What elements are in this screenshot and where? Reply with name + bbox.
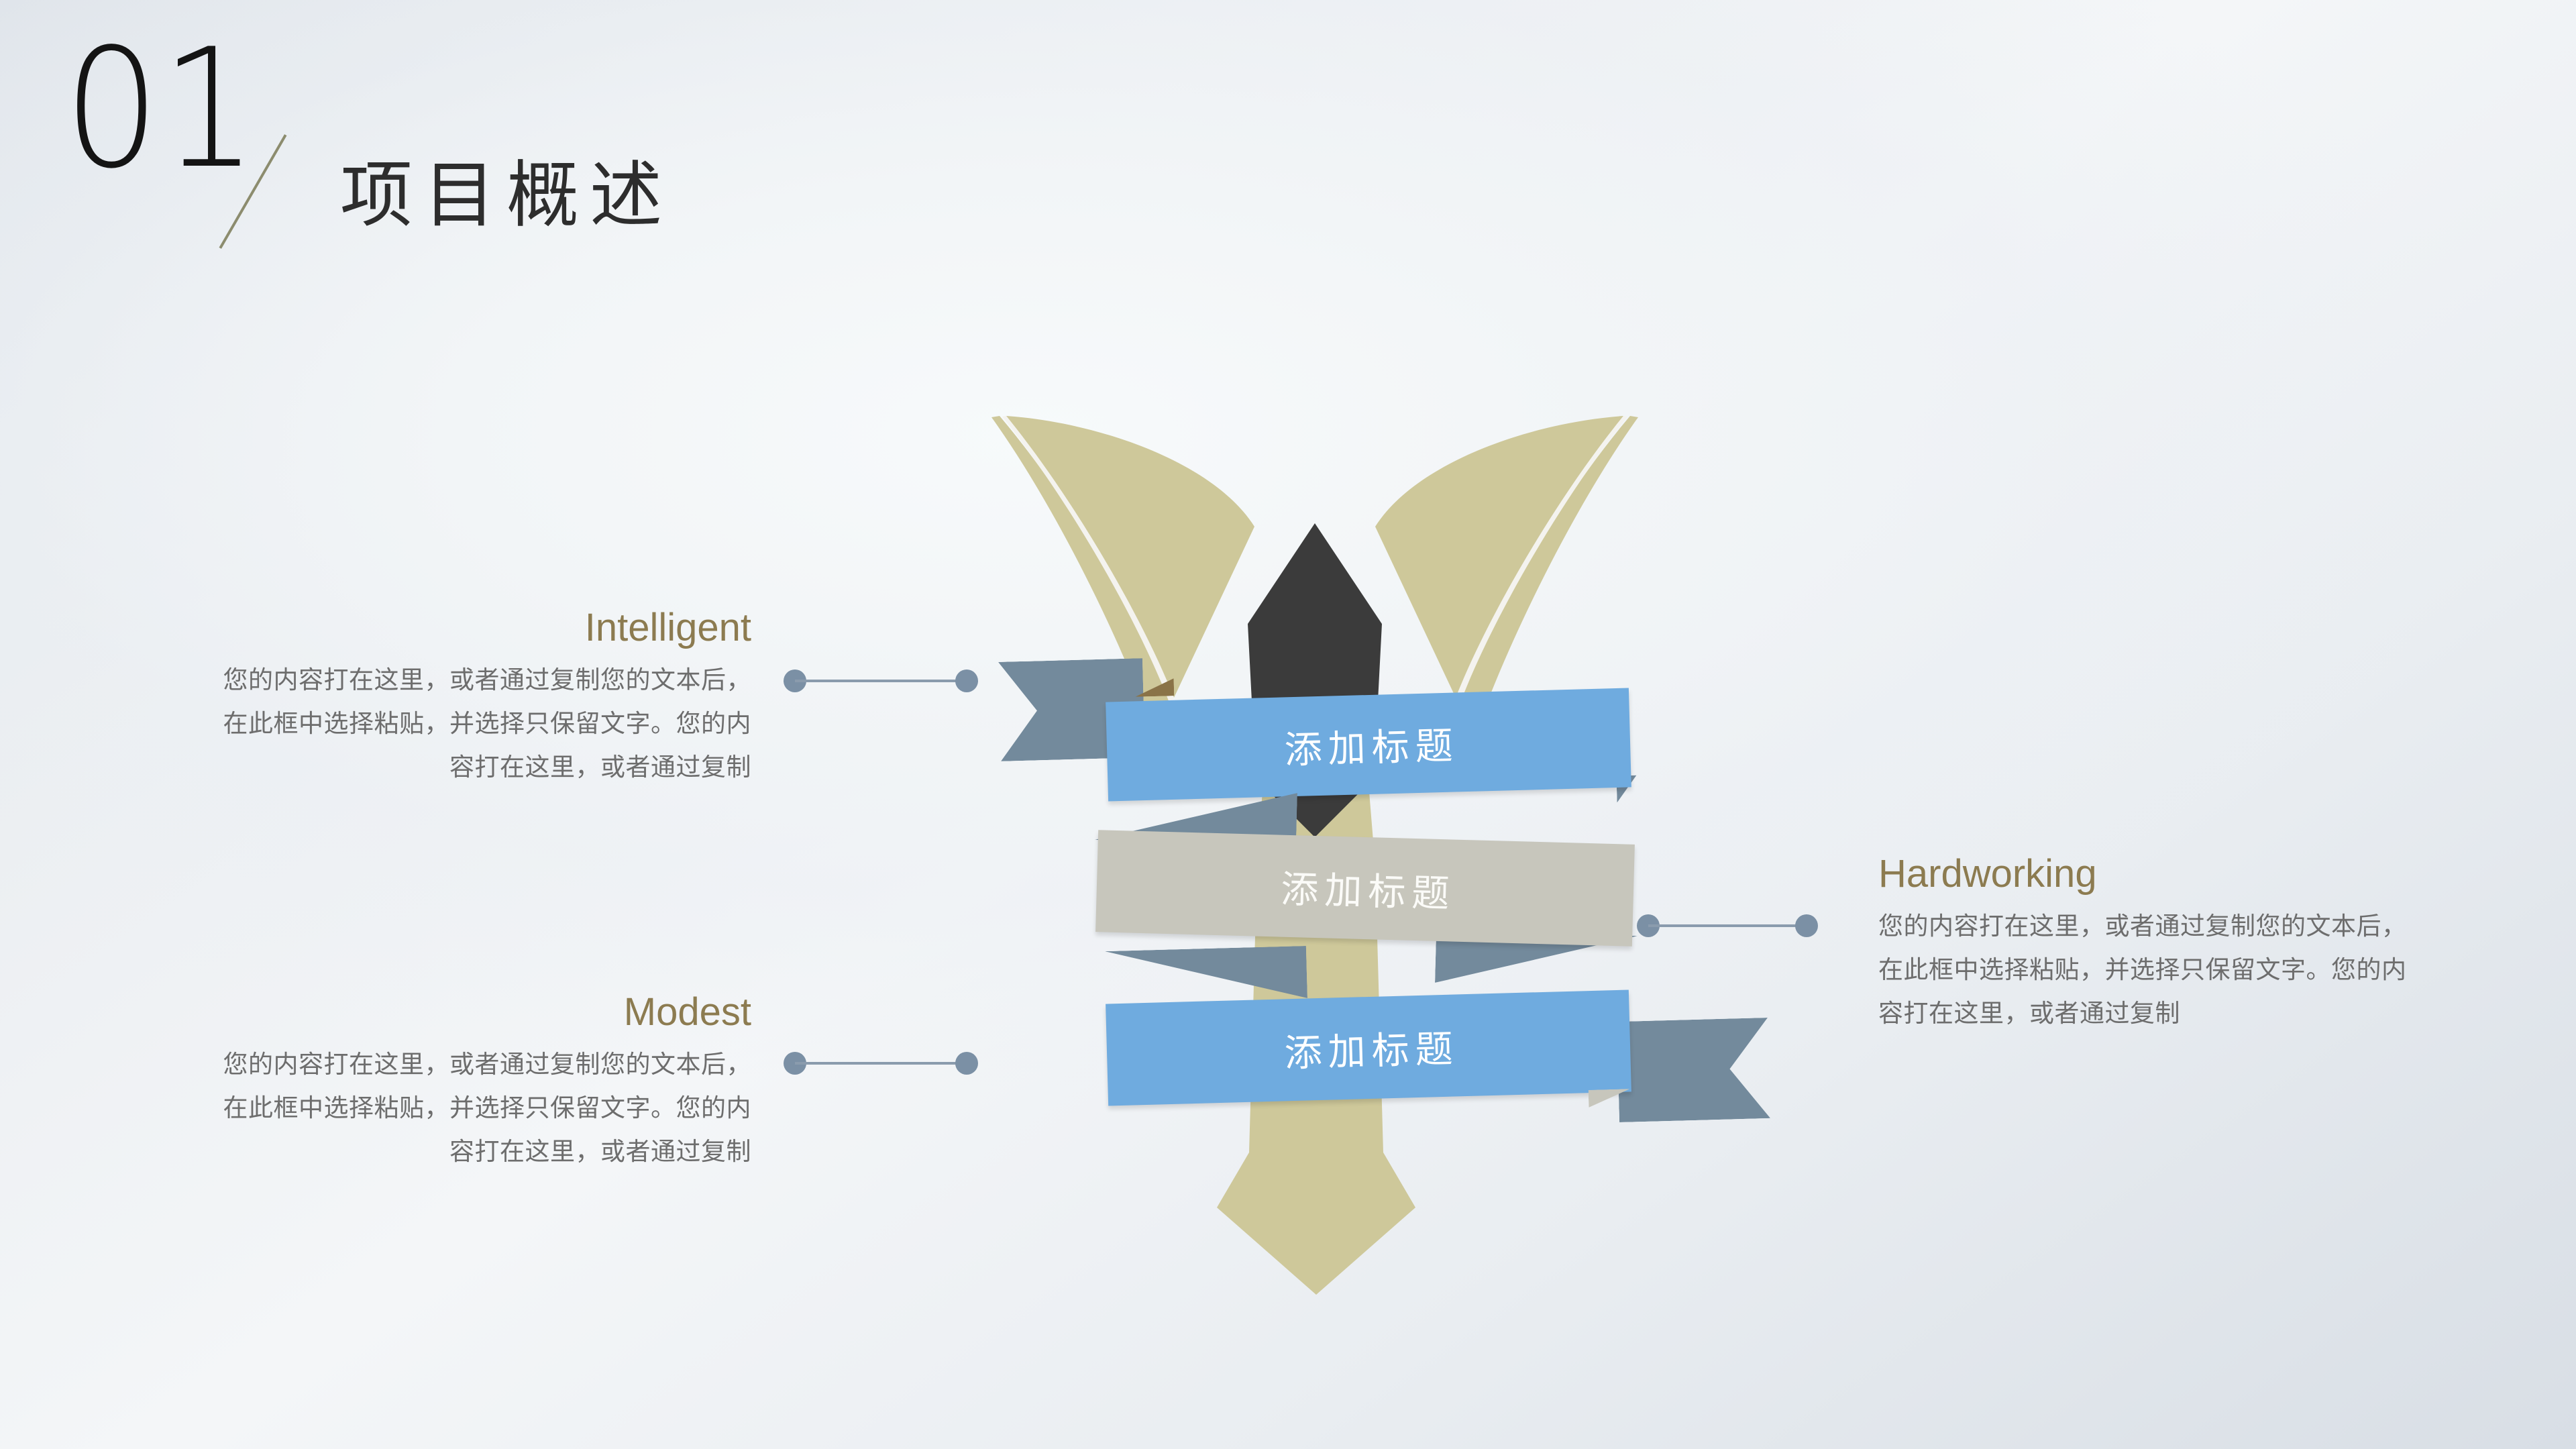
- ribbon-banner-bottom[interactable]: 添加标题: [1107, 997, 1630, 1099]
- ribbon-band-bottom: 添加标题: [1106, 989, 1631, 1106]
- panel-modest-body: 您的内容打在这里，或者通过复制您的文本后，在此框中选择粘贴，并选择只保留文字。您…: [221, 1042, 751, 1173]
- ribbon-banner-middle[interactable]: 添加标题: [1097, 837, 1633, 939]
- connector-modest: [784, 1052, 978, 1075]
- connector-hardworking: [1637, 914, 1818, 937]
- panel-hardworking-body: 您的内容打在这里，或者通过复制您的文本后，在此框中选择粘贴，并选择只保留文字。您…: [1878, 904, 2408, 1035]
- page-title: 01 项目概述: [64, 27, 735, 248]
- panel-hardworking-heading: Hardworking: [1878, 853, 2408, 895]
- section-number: 01: [64, 27, 259, 191]
- ribbon-banner-top[interactable]: 添加标题: [1107, 695, 1630, 794]
- connector-line: [795, 1062, 967, 1065]
- ribbon-band-top: 添加标题: [1106, 688, 1631, 801]
- ribbon-tail-right: [1617, 1018, 1770, 1122]
- panel-intelligent-body: 您的内容打在这里，或者通过复制您的文本后，在此框中选择粘贴，并选择只保留文字。您…: [221, 658, 751, 789]
- ribbon-bottom-label: 添加标题: [1277, 1018, 1459, 1077]
- panel-hardworking: Hardworking 您的内容打在这里，或者通过复制您的文本后，在此框中选择粘…: [1878, 853, 2408, 1035]
- panel-intelligent: Intelligent 您的内容打在这里，或者通过复制您的文本后，在此框中选择粘…: [221, 607, 751, 789]
- ribbon-middle-label: 添加标题: [1274, 859, 1456, 918]
- connector-dot-icon: [1795, 914, 1818, 937]
- connector-line: [1648, 924, 1807, 927]
- section-title: 项目概述: [340, 160, 673, 232]
- connector-line: [795, 680, 967, 682]
- panel-modest: Modest 您的内容打在这里，或者通过复制您的文本后，在此框中选择粘贴，并选择…: [221, 991, 751, 1173]
- ribbon-top-label: 添加标题: [1277, 715, 1459, 774]
- slide-canvas: 01 项目概述 Intelligent 您的内容打在这里，或者通过复制您的文本后…: [0, 0, 2576, 1449]
- ribbon-band-middle: 添加标题: [1095, 830, 1635, 947]
- panel-modest-heading: Modest: [221, 991, 751, 1033]
- panel-intelligent-heading: Intelligent: [221, 607, 751, 649]
- connector-intelligent: [784, 669, 978, 692]
